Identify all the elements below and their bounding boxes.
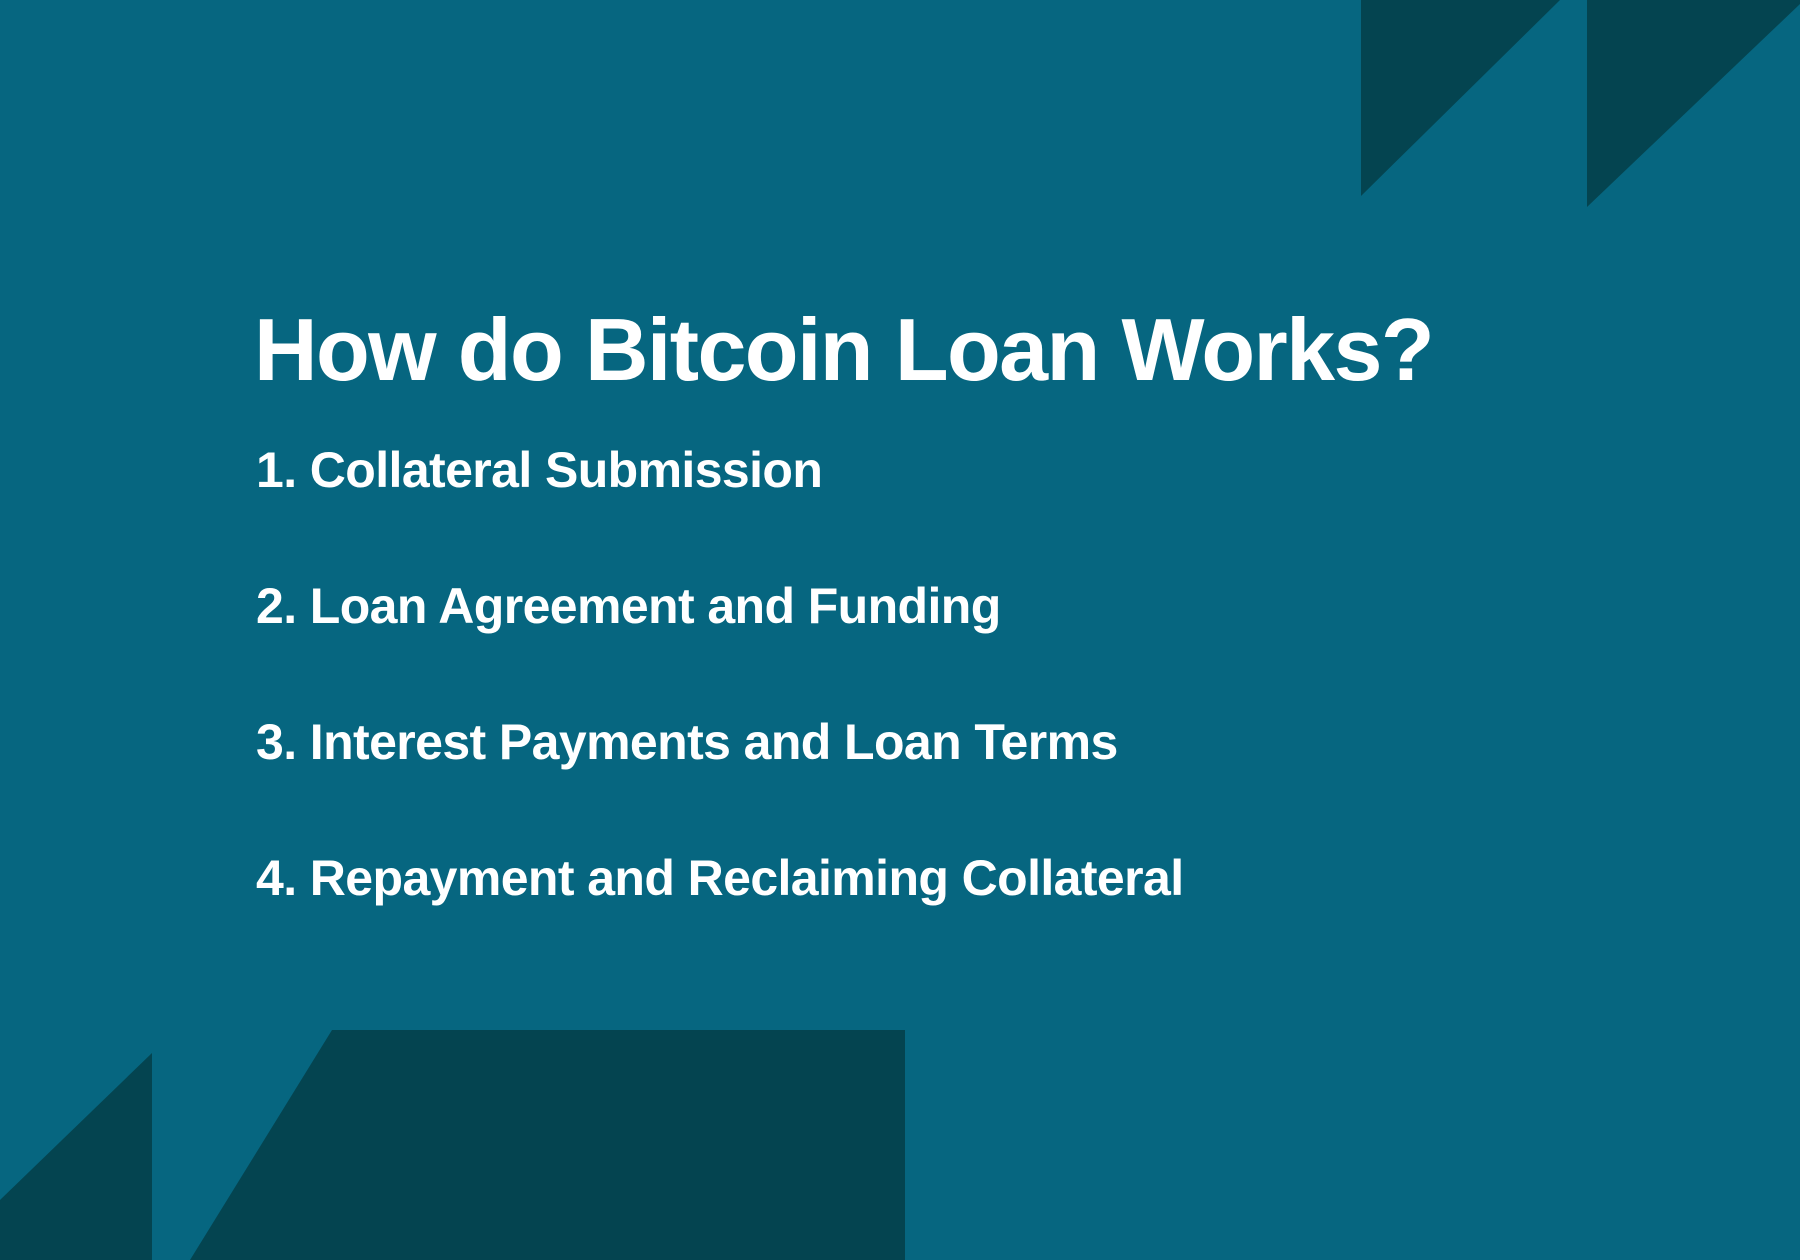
list-item: 4. Repayment and Reclaiming Collateral: [256, 853, 1656, 903]
slide-content: How do Bitcoin Loan Works? 1. Collateral…: [0, 0, 1800, 1260]
steps-list: 1. Collateral Submission 2. Loan Agreeme…: [256, 445, 1656, 903]
list-item: 3. Interest Payments and Loan Terms: [256, 717, 1656, 767]
page-title: How do Bitcoin Loan Works?: [254, 304, 1433, 396]
slide-canvas: How do Bitcoin Loan Works? 1. Collateral…: [0, 0, 1800, 1260]
list-item: 1. Collateral Submission: [256, 445, 1656, 495]
list-item: 2. Loan Agreement and Funding: [256, 581, 1656, 631]
